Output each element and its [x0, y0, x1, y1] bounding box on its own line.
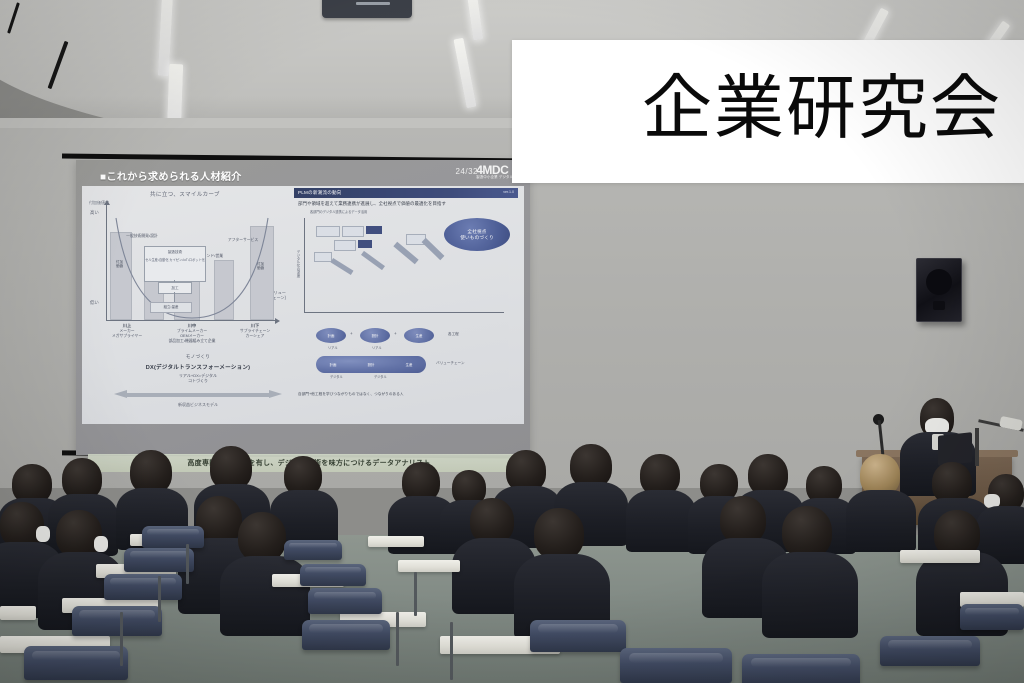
desk-leg	[120, 612, 123, 666]
face-mask	[36, 526, 50, 542]
chart-x-axis	[106, 320, 276, 321]
desk	[0, 606, 36, 620]
dx-monozukuri-label: モノづくり	[108, 354, 288, 360]
value-chain-diagram: 計画 + 設計 + 生産 各工程 リアル リアル 計画 設計 生産 バリューチェ…	[316, 328, 506, 384]
chain-node: 生産	[394, 357, 424, 372]
right-panel-x-axis	[304, 312, 504, 313]
chart-center-box-low: 組立・量産	[150, 302, 192, 313]
chart-heading: 共に立つ、スマイルカーブ	[150, 190, 220, 198]
desk-leg	[158, 576, 161, 622]
right-panel-header: PLMの新潮流の動向 ver.1.0	[294, 188, 518, 198]
chair	[104, 574, 182, 600]
chair	[124, 548, 194, 572]
panel-chip	[334, 240, 356, 251]
title-overlay-card: 企業研究会	[512, 40, 1024, 183]
body	[762, 552, 858, 638]
head	[238, 512, 286, 562]
page-title: 企業研究会	[642, 73, 1024, 151]
chain-node: 計画	[318, 357, 348, 372]
panel-arrow	[422, 238, 445, 260]
panel-chip	[342, 226, 364, 237]
chart-y-axis	[106, 204, 107, 320]
chart-x-tick: 川中 プライムメーカー OEMメーカー 部品加工・機器組み立て企業	[156, 323, 228, 344]
panel-highlight-bubble: 全社視点 使いものづくり	[444, 218, 510, 251]
arrow-shaft	[126, 393, 270, 397]
chart-connector	[174, 292, 175, 302]
chain-link-label: デジタル	[330, 374, 343, 379]
dx-title: DX(デジタルトランスフォーメーション)	[108, 363, 288, 371]
chart-x-tick-label: メーカー メガサプライヤー	[112, 329, 142, 338]
panel-chip	[316, 226, 340, 237]
chain-plus-icon: +	[350, 331, 353, 336]
chart-y-low-label: 低い	[90, 300, 99, 306]
chart-center-box-sub: 加工	[158, 282, 192, 294]
screenshot-root: ■これから求められる人材紹介 24/32 4MDC 製造中小企業 デジタル化支援…	[0, 0, 1024, 683]
slide-page-number: 24/32	[455, 167, 478, 176]
projection-screen: ■これから求められる人材紹介 24/32 4MDC 製造中小企業 デジタル化支援…	[76, 160, 530, 455]
body	[626, 490, 696, 552]
speaker-cone	[926, 269, 952, 295]
audience-seating	[0, 440, 1024, 683]
chain-node: 設計	[356, 357, 386, 372]
panel-blue-chip	[366, 226, 382, 234]
chair	[284, 540, 342, 560]
chart-x-tick-stage: 川下	[232, 323, 278, 328]
arrow-head-right	[269, 390, 282, 398]
smile-curve-chart: 共に立つ、スマイルカーブ 付加価値率 高い 低い 製造工程(バリューチェーン) …	[88, 190, 284, 358]
desk-leg	[414, 572, 417, 616]
chair	[24, 646, 128, 680]
chair	[308, 588, 382, 614]
wall-speaker-icon	[916, 258, 962, 322]
chart-x-tick: 川下 サプライチェーン カーシェア	[232, 323, 278, 339]
desk-leg	[186, 544, 189, 584]
slide-right-panel: PLMの新潮流の動向 ver.1.0 部門や領域を超えて業務連携が進展し、全社視…	[294, 188, 518, 412]
chair	[880, 636, 980, 666]
head	[56, 510, 102, 558]
right-panel-header-text: PLMの新潮流の動向	[298, 190, 342, 196]
chain-node: 生産	[404, 328, 434, 343]
desk-leg	[396, 612, 399, 666]
chair	[742, 654, 860, 683]
head	[534, 508, 584, 560]
slide-content: 共に立つ、スマイルカーブ 付加価値率 高い 低い 製造工程(バリューチェーン) …	[82, 186, 524, 424]
chart-x-ticks: 川上 メーカー メガサプライヤー 川中 プライムメーカー OEMメーカー 部品加…	[106, 323, 278, 357]
desk	[900, 550, 980, 563]
dx-footer-label: 新収益ビジネスモデル	[108, 402, 288, 408]
slide-header-title: ■これから求められる人材紹介	[100, 168, 242, 183]
chain-row-caption: 各工程	[448, 332, 459, 337]
panel-blue-chip	[358, 240, 372, 248]
chart-x-tick-label: プライムメーカー OEMメーカー 部品加工・機器組み立て企業	[169, 329, 216, 343]
right-panel-subtitle: 部門や領域を超えて業務連携が進展し、全社視点で価値の最適化を目指す	[298, 201, 446, 207]
chart-x-tick-stage: 川上	[106, 323, 148, 328]
panel-arrow	[361, 251, 385, 270]
desk	[398, 560, 460, 572]
dx-double-arrow-icon	[114, 390, 282, 399]
dx-band: モノづくり DX(デジタルトランスフォーメーション) リアル+DX=デジタル コ…	[108, 354, 288, 412]
desk	[368, 536, 424, 547]
panel-arrow	[330, 258, 353, 275]
panel-arrow	[393, 242, 418, 265]
dx-subtitle: リアル+DX=デジタル コトづくり	[108, 373, 288, 384]
right-panel-header-version: ver.1.0	[503, 190, 514, 194]
chart-center-box-lines: セル生産・自動化 カイゼン・IoT・ロボット化	[145, 258, 205, 262]
chair	[302, 620, 390, 650]
right-panel-note: 各部門のデジタル連携によるデータ活用	[310, 209, 367, 214]
chain-row-caption: バリューチェーン	[436, 361, 465, 366]
chain-node: 設計	[360, 328, 390, 343]
chart-x-tick-stage: 川中	[156, 323, 228, 328]
chart-x-tick: 川上 メーカー メガサプライヤー	[106, 323, 148, 339]
chain-plus-icon: +	[394, 331, 397, 336]
head	[720, 496, 766, 544]
body	[846, 490, 916, 552]
projector-label	[356, 2, 390, 5]
chart-y-high-label: 高い	[90, 210, 99, 216]
chart-x-tick-label: サプライチェーン カーシェア	[240, 329, 270, 338]
chain-link-label: リアル	[328, 345, 338, 350]
chair	[960, 604, 1024, 630]
chair	[142, 526, 204, 548]
chart-center-box: 製造技術 セル生産・自動化 カイゼン・IoT・ロボット化	[144, 246, 206, 282]
body	[220, 556, 310, 636]
chart-center-box-title: 製造技術	[145, 250, 205, 255]
chair	[72, 606, 162, 636]
right-panel-y-axis	[304, 218, 305, 312]
desk-leg	[450, 622, 453, 680]
chain-node: 計画	[316, 328, 346, 343]
projector-unit	[322, 0, 412, 18]
chain-link-label: リアル	[372, 345, 382, 350]
chain-link-label: デジタル	[374, 374, 387, 379]
chair	[620, 648, 732, 683]
head	[782, 506, 832, 558]
face-mask	[94, 536, 108, 552]
right-panel-footer: 自部門+他工程を学びつながりものではなく、つながりのある人	[298, 392, 404, 397]
right-panel-y-axis-label: デジタル化の深度	[296, 250, 301, 277]
chair	[300, 564, 366, 586]
chair	[530, 620, 626, 652]
panel-chip	[314, 252, 332, 262]
speaker-tweeter	[933, 301, 945, 310]
